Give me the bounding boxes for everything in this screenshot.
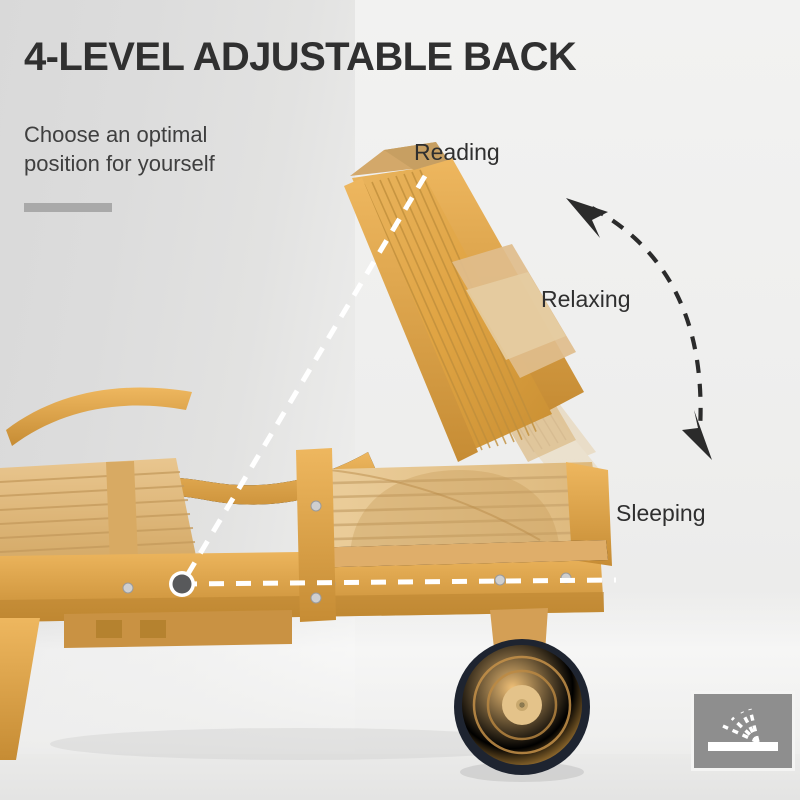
page-title: 4-LEVEL ADJUSTABLE BACK <box>24 36 724 78</box>
subtitle-line-1: Choose an optimal <box>24 122 207 147</box>
background-floor-strip <box>0 754 800 800</box>
annotation-reading: Reading <box>414 139 500 166</box>
badge-glyph <box>694 694 792 768</box>
accent-rule <box>24 203 112 212</box>
subtitle-line-2: position for yourself <box>24 151 215 176</box>
recline-positions-badge-icon <box>694 694 792 768</box>
page-subtitle: Choose an optimal position for yourself <box>24 120 324 178</box>
annotation-sleeping: Sleeping <box>616 500 706 527</box>
infographic-root: 4-LEVEL ADJUSTABLE BACK Choose an optima… <box>0 0 800 800</box>
annotation-relaxing: Relaxing <box>541 286 631 313</box>
